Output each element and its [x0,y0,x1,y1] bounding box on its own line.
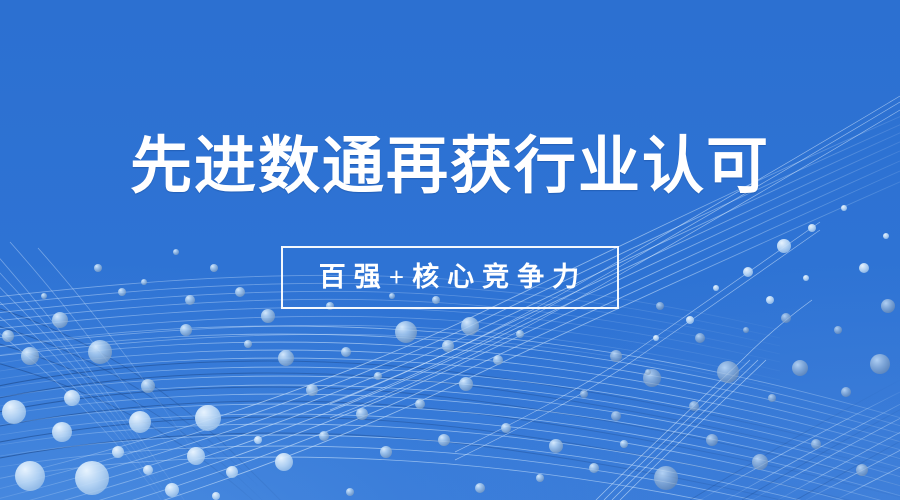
subtitle-box: 百强+核心竞争力 [281,246,619,309]
promo-banner: 先进数通再获行业认可 百强+核心竞争力 [0,0,900,500]
page-title: 先进数通再获行业认可 [130,132,770,202]
title-container: 先进数通再获行业认可 [0,132,900,202]
subtitle-container: 百强+核心竞争力 [0,246,900,309]
subtitle-text: 百强+核心竞争力 [319,260,587,294]
